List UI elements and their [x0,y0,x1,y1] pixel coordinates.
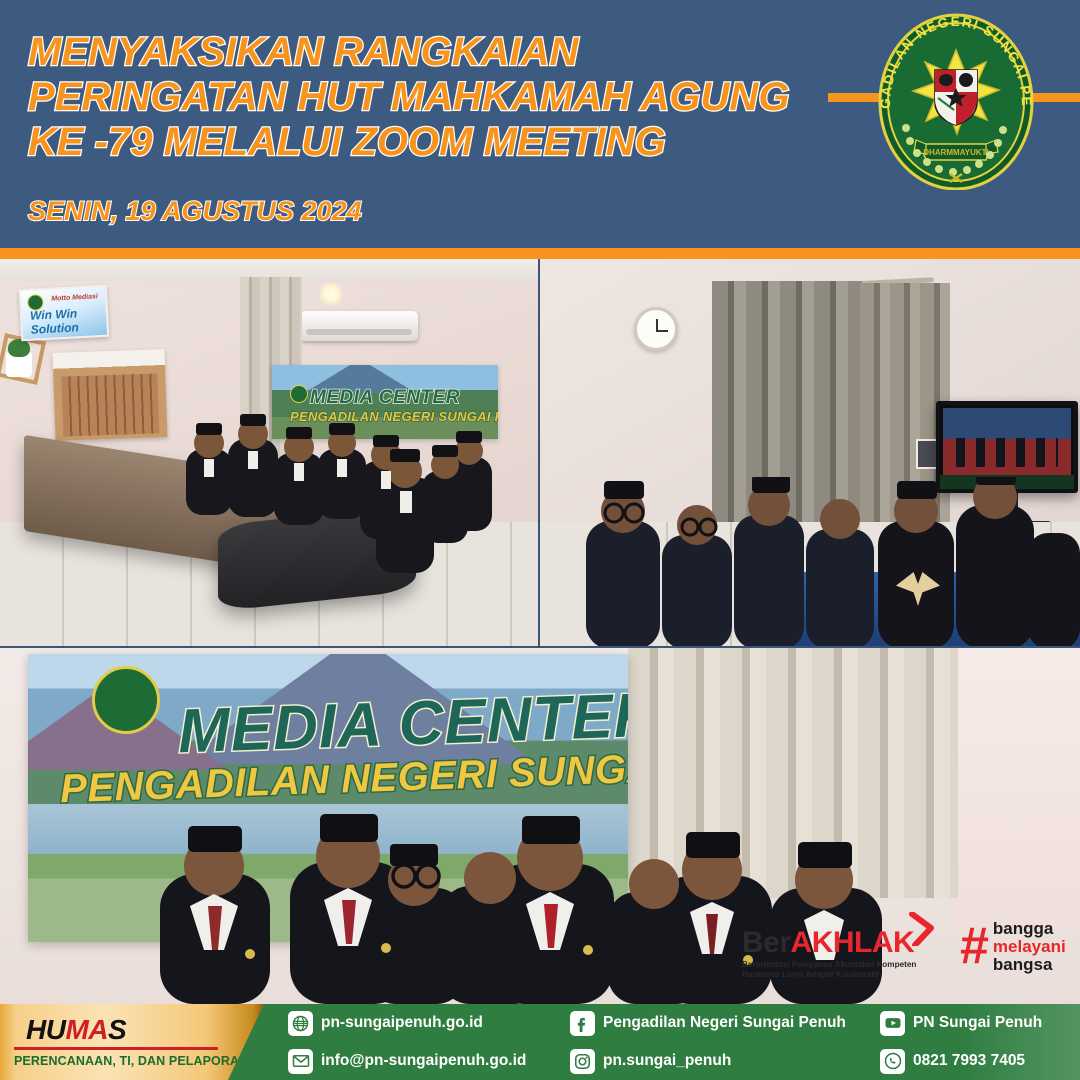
photo-band-top: Motto Mediasi Win Win Solution MEDIA CEN… [0,259,1080,646]
banner-seal-icon [92,666,160,734]
potted-plant [6,351,32,377]
contact-email[interactable]: info@pn-sungaipenuh.go.id [288,1042,570,1080]
court-seal-logo: PENGADILAN NEGERI SUNGAI PENUH [866,10,1046,190]
contact-youtube[interactable]: PN Sungai Penuh [880,1004,1080,1042]
youtube-icon [880,1011,905,1036]
wall-clock-icon [634,307,678,351]
whatsapp-icon [880,1049,905,1074]
berakhlak-tagline-line-1: Berorientasi Pelayanan Akuntabel Kompete… [742,960,942,970]
wall-sign-motto: Motto Mediasi Win Win Solution [19,285,110,342]
right-wall [950,648,1080,928]
contact-website[interactable]: pn-sungaipenuh.go.id [288,1004,570,1042]
event-date: SENIN, 19 AGUSTUS 2024 [28,196,362,227]
contact-youtube-text: PN Sungai Penuh [913,1014,1042,1032]
humas-subtitle: PERENCANAAN, TI, DAN PELAPORAN [14,1054,248,1068]
contact-instagram-text: pn.sungai_penuh [603,1052,731,1070]
berakhlak-tagline-line-2: Harmonis Loyal Adaptif Kolaboratif [742,970,942,980]
poster-footer: HUMAS PERENCANAAN, TI, DAN PELAPORAN pn-… [0,1004,1080,1080]
wall-sign-label: Motto Mediasi [51,293,98,302]
contact-whatsapp[interactable]: 0821 7993 7405 [880,1042,1080,1080]
chevron-right-icon [909,912,935,946]
bangga-wordmark: bangga melayani bangsa [993,920,1066,974]
humas-title: HUMAS [26,1014,126,1046]
title-line-3: KE -79 MELALUI ZOOM MEETING [28,120,828,165]
banner-seal-icon [290,385,308,403]
envelope-icon [288,1049,313,1074]
ceiling-lamp [318,281,344,307]
title-line-1: MENYAKSIKAN RANGKAIAN [28,30,828,75]
bangga-line-2: melayani [993,938,1066,956]
humas-title-part-2: MA [65,1014,108,1045]
contact-facebook-text: Pengadilan Negeri Sungai Penuh [603,1014,846,1032]
photo-top-left: Motto Mediasi Win Win Solution MEDIA CEN… [0,259,538,646]
footer-contacts: pn-sungaipenuh.go.id Pengadilan Negeri S… [288,1004,1080,1080]
poster-header: MENYAKSIKAN RANGKAIAN PERINGATAN HUT MAH… [0,0,1080,248]
header-divider [0,248,1080,259]
bangga-melayani-bangsa-logo: # bangga melayani bangsa [960,920,1080,974]
contact-instagram[interactable]: pn.sungai_penuh [570,1042,880,1080]
air-conditioner [300,311,418,341]
hashtag-icon: # [960,926,989,968]
contact-facebook[interactable]: Pengadilan Negeri Sungai Penuh [570,1004,880,1042]
berakhlak-tagline: Berorientasi Pelayanan Akuntabel Kompete… [742,960,942,981]
contact-whatsapp-text: 0821 7993 7405 [913,1052,1025,1070]
humas-divider [14,1047,218,1050]
seated-attendees-left [170,409,500,639]
wall-sign-value: Win Win Solution [30,305,107,337]
poster-root: MENYAKSIKAN RANGKAIAN PERINGATAN HUT MAH… [0,0,1080,1080]
berakhlak-logo: BerAKHLAK Berorientasi Pelayanan Akuntab… [742,928,942,981]
bangga-line-1: bangga [993,920,1066,938]
wall-photo-frame [916,439,938,469]
banner-title: MEDIA CENTER [310,387,460,409]
globe-icon [288,1011,313,1036]
seated-attendees-right [566,477,1080,646]
bangga-line-3: bangsa [993,956,1066,974]
humas-title-part-3: S [108,1014,126,1045]
wall-poster-building [52,349,167,441]
page-title: MENYAKSIKAN RANGKAIAN PERINGATAN HUT MAH… [28,30,828,166]
title-line-2: PERINGATAN HUT MAHKAMAH AGUNG [28,75,828,120]
humas-badge: HUMAS PERENCANAAN, TI, DAN PELAPORAN [0,1004,264,1080]
facebook-icon [570,1011,595,1036]
humas-title-part-1: HU [26,1014,65,1045]
contact-website-text: pn-sungaipenuh.go.id [321,1014,483,1032]
contact-email-text: info@pn-sungaipenuh.go.id [321,1052,526,1070]
svg-text:DHARMMAYUKTI: DHARMMAYUKTI [923,148,988,157]
berakhlak-prefix: Ber [742,926,791,959]
berakhlak-suffix: AKHLAK [791,926,915,959]
instagram-icon [570,1049,595,1074]
header-title-block: MENYAKSIKAN RANGKAIAN PERINGATAN HUT MAH… [28,30,828,166]
court-seal-icon: PENGADILAN NEGERI SUNGAI PENUH [866,10,1046,190]
photo-top-right [540,259,1080,646]
